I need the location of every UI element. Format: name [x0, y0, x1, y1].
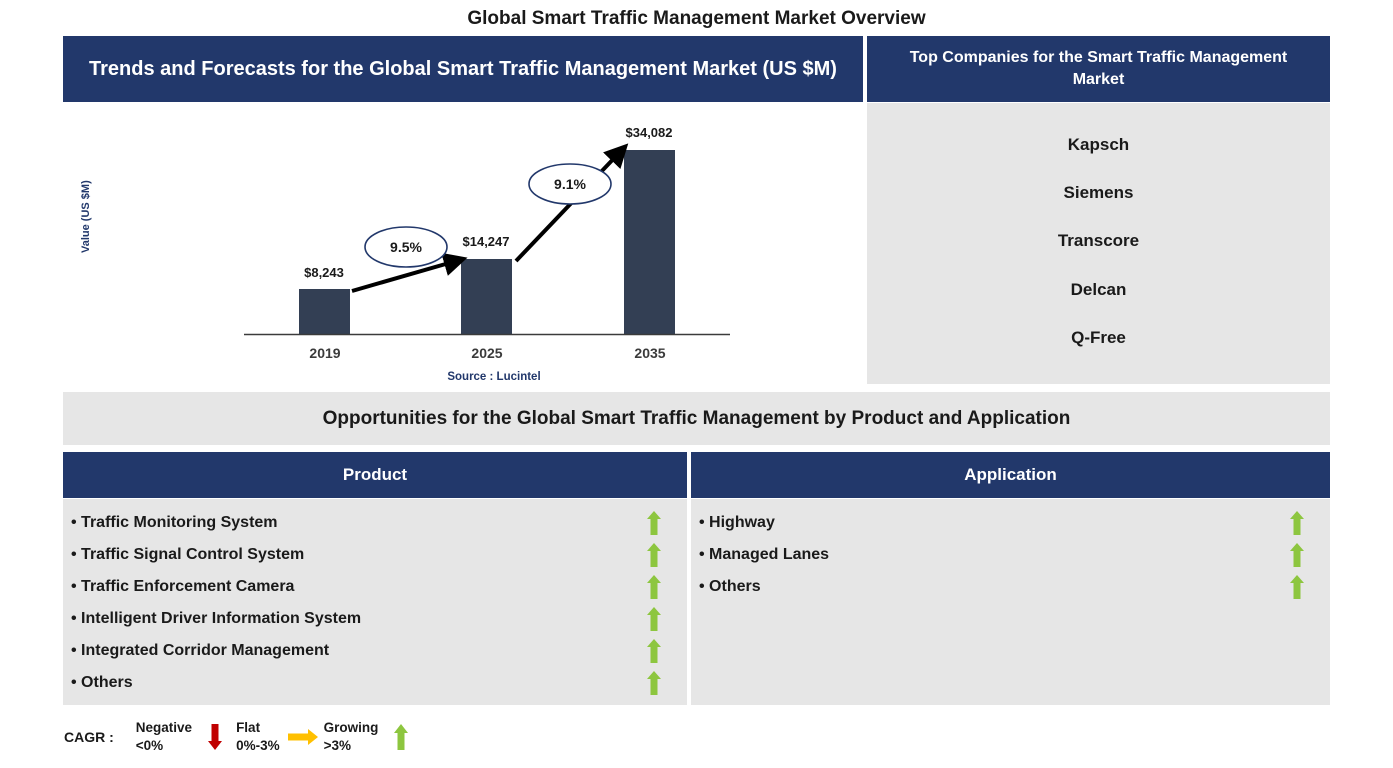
trends-panel-header-label: Trends and Forecasts for the Global Smar… — [89, 56, 837, 83]
application-panel-header: Application — [691, 452, 1330, 498]
application-item-label: • Others — [699, 578, 1280, 596]
trends-panel-body: 9.5% 9.1% $8,243 $14,247 $34,082 Value (… — [63, 102, 863, 384]
x-tick-2019: 2019 — [285, 345, 365, 361]
arrow-up-icon — [386, 724, 416, 750]
company-item: Delcan — [867, 280, 1330, 300]
arrow-up-icon — [1280, 543, 1314, 567]
list-item: • Intelligent Driver Information System — [63, 603, 687, 635]
list-item: • Highway — [691, 507, 1330, 539]
value-label-2019: $8,243 — [284, 265, 364, 280]
application-item-label: • Highway — [699, 514, 1280, 532]
arrow-up-icon — [1280, 511, 1314, 535]
arrow-up-icon — [637, 511, 671, 535]
arrow-up-icon — [637, 671, 671, 695]
cagr-legend: CAGR : Negative <0% Flat 0%-3% Growing >… — [64, 714, 422, 760]
company-item: Q-Free — [867, 328, 1330, 348]
list-item: • Integrated Corridor Management — [63, 635, 687, 667]
infographic-page: Global Smart Traffic Management Market O… — [0, 0, 1393, 768]
value-label-2035: $34,082 — [609, 125, 689, 140]
list-item: • Traffic Monitoring System — [63, 507, 687, 539]
product-item-label: • Traffic Monitoring System — [71, 514, 637, 532]
x-tick-2025: 2025 — [447, 345, 527, 361]
legend-negative-label: Negative — [136, 719, 192, 737]
product-panel-header: Product — [63, 452, 687, 498]
y-axis-title: Value (US $M) — [80, 143, 92, 253]
legend-flat-label: Flat — [236, 719, 280, 737]
legend-negative-range: <0% — [136, 737, 192, 755]
x-tick-2035: 2035 — [610, 345, 690, 361]
legend-item-negative: Negative <0% — [136, 719, 230, 755]
arrow-up-icon — [637, 575, 671, 599]
product-panel-header-label: Product — [343, 465, 407, 485]
trends-panel-header: Trends and Forecasts for the Global Smar… — [63, 36, 863, 102]
market-forecast-chart: 9.5% 9.1% $8,243 $14,247 $34,082 — [64, 103, 864, 385]
legend-item-flat: Flat 0%-3% — [236, 719, 318, 755]
company-item: Siemens — [867, 183, 1330, 203]
arrow-up-icon — [637, 607, 671, 631]
product-item-label: • Others — [71, 674, 637, 692]
opportunities-bar: Opportunities for the Global Smart Traff… — [63, 392, 1330, 445]
arrow-up-icon — [637, 639, 671, 663]
legend-growing-range: >3% — [324, 737, 379, 755]
list-item: • Others — [63, 667, 687, 699]
list-item: • Traffic Enforcement Camera — [63, 571, 687, 603]
companies-panel-body: Kapsch Siemens Transcore Delcan Q-Free — [867, 103, 1330, 384]
arrow-up-icon — [1280, 575, 1314, 599]
product-panel-body: • Traffic Monitoring System • Traffic Si… — [63, 499, 687, 705]
cagr-callout-label-2: 9.1% — [529, 176, 611, 192]
product-item-label: • Traffic Enforcement Camera — [71, 578, 637, 596]
product-item-label: • Intelligent Driver Information System — [71, 610, 637, 628]
company-item: Kapsch — [867, 135, 1330, 155]
legend-flat-range: 0%-3% — [236, 737, 280, 755]
product-item-label: • Integrated Corridor Management — [71, 642, 637, 660]
application-panel-header-label: Application — [964, 465, 1057, 485]
arrow-down-icon — [200, 724, 230, 750]
legend-item-growing: Growing >3% — [324, 719, 417, 755]
product-item-label: • Traffic Signal Control System — [71, 546, 637, 564]
cagr-callout-label-1: 9.5% — [365, 239, 447, 255]
companies-panel-header-label: Top Companies for the Smart Traffic Mana… — [889, 47, 1308, 90]
arrow-up-icon — [637, 543, 671, 567]
list-item: • Traffic Signal Control System — [63, 539, 687, 571]
opportunities-bar-label: Opportunities for the Global Smart Traff… — [323, 408, 1071, 430]
application-item-label: • Managed Lanes — [699, 546, 1280, 564]
company-item: Transcore — [867, 231, 1330, 251]
value-label-2025: $14,247 — [446, 234, 526, 249]
list-item: • Others — [691, 571, 1330, 603]
page-title: Global Smart Traffic Management Market O… — [63, 8, 1330, 30]
chart-source-note: Source : Lucintel — [394, 371, 594, 383]
application-panel-body: • Highway • Managed Lanes • Others — [691, 499, 1330, 705]
legend-growing-label: Growing — [324, 719, 379, 737]
arrow-right-icon — [288, 729, 318, 745]
list-item: • Managed Lanes — [691, 539, 1330, 571]
cagr-legend-title: CAGR : — [64, 729, 114, 745]
companies-panel-header: Top Companies for the Smart Traffic Mana… — [867, 36, 1330, 102]
